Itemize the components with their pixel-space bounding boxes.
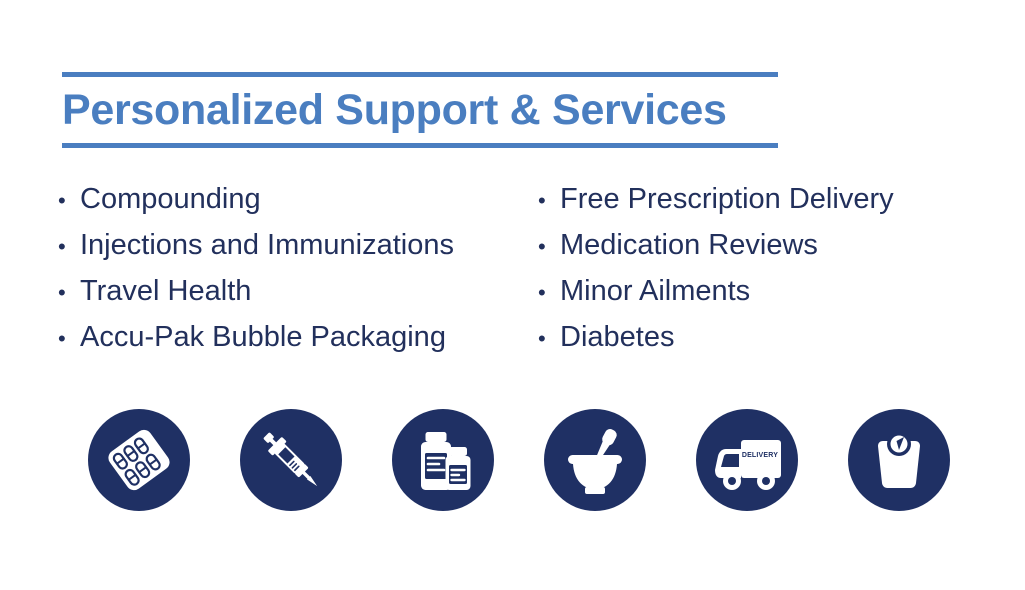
bullet-icon: • <box>58 270 80 316</box>
list-item: • Free Prescription Delivery <box>538 176 998 222</box>
mortar-and-pestle-icon <box>544 409 646 511</box>
bullet-icon: • <box>538 270 560 316</box>
slide-canvas: Personalized Support & Services • Compou… <box>0 0 1025 590</box>
service-label: Diabetes <box>560 314 674 360</box>
service-label: Travel Health <box>80 268 251 314</box>
pill-bottles-icon <box>392 409 494 511</box>
title-bottom-rule <box>62 143 778 148</box>
service-label: Minor Ailments <box>560 268 750 314</box>
list-item: • Travel Health <box>58 268 538 314</box>
bullet-icon: • <box>58 178 80 224</box>
delivery-truck-icon: DELIVERY <box>696 409 798 511</box>
bullet-icon: • <box>538 224 560 270</box>
page-title: Personalized Support & Services <box>62 77 778 143</box>
bullet-icon: • <box>538 316 560 362</box>
list-item: • Injections and Immunizations <box>58 222 538 268</box>
service-label: Compounding <box>80 176 261 222</box>
weight-scale-icon <box>848 409 950 511</box>
service-label: Injections and Immunizations <box>80 222 454 268</box>
list-item: • Compounding <box>58 176 538 222</box>
bullet-icon: • <box>538 178 560 224</box>
services-column-left: • Compounding • Injections and Immunizat… <box>58 176 538 360</box>
services-lists: • Compounding • Injections and Immunizat… <box>0 176 1025 360</box>
list-item: • Diabetes <box>538 314 998 360</box>
list-item: • Medication Reviews <box>538 222 998 268</box>
list-item: • Accu-Pak Bubble Packaging <box>58 314 538 360</box>
bullet-icon: • <box>58 316 80 362</box>
services-column-right: • Free Prescription Delivery • Medicatio… <box>538 176 998 360</box>
list-item: • Minor Ailments <box>538 268 998 314</box>
blister-pack-icon <box>88 409 190 511</box>
service-icons-row: DELIVERY <box>88 409 950 511</box>
service-label: Accu-Pak Bubble Packaging <box>80 314 446 360</box>
syringe-icon <box>240 409 342 511</box>
header-block: Personalized Support & Services <box>62 72 778 148</box>
bullet-icon: • <box>58 224 80 270</box>
service-label: Medication Reviews <box>560 222 818 268</box>
truck-delivery-text: DELIVERY <box>742 452 778 459</box>
service-label: Free Prescription Delivery <box>560 176 894 222</box>
